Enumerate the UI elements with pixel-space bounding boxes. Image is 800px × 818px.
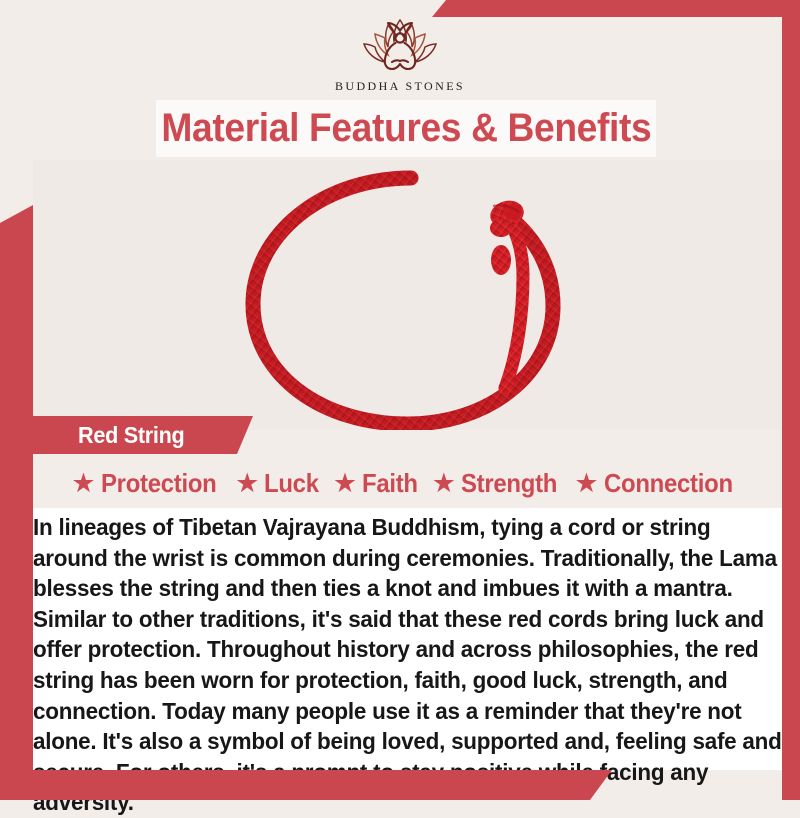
benefit-item: ★ Strength [432, 468, 566, 499]
benefit-item: ★ Connection [574, 468, 743, 499]
brand-logo: BUDDHA STONES [335, 14, 465, 94]
benefit-label: Strength [461, 468, 557, 499]
page-title: Material Features & Benefits [161, 106, 651, 151]
frame-right-border [782, 0, 800, 800]
benefit-label: Protection [101, 468, 217, 499]
description-panel: In lineages of Tibetan Vajrayana Buddhis… [33, 508, 782, 770]
benefits-row: ★ Protection ★ Luck ★ Faith ★ Strength ★… [33, 462, 782, 504]
ribbon-label: Red String [78, 422, 184, 449]
frame-bottom-border [0, 770, 612, 800]
benefit-item: ★ Luck [235, 468, 324, 499]
star-icon: ★ [574, 470, 598, 497]
star-icon: ★ [432, 470, 456, 497]
star-icon: ★ [71, 470, 95, 497]
benefit-label: Faith [362, 468, 418, 499]
infographic-canvas: BUDDHA STONES Material Features & Benefi… [0, 0, 800, 800]
star-icon: ★ [333, 470, 357, 497]
page-title-band: Material Features & Benefits [156, 100, 656, 157]
frame-top-border [432, 0, 800, 17]
benefit-label: Luck [264, 468, 319, 499]
benefit-label: Connection [604, 468, 733, 499]
product-image [33, 160, 782, 430]
benefit-item: ★ Faith [333, 468, 423, 499]
product-ribbon: Red String [33, 416, 253, 454]
red-string-bracelet-icon [201, 160, 621, 430]
frame-left-border [0, 205, 33, 800]
lotus-meditation-icon [348, 14, 452, 76]
star-icon: ★ [235, 470, 259, 497]
benefit-item: ★ Protection [71, 468, 226, 499]
brand-name: BUDDHA STONES [335, 79, 465, 94]
